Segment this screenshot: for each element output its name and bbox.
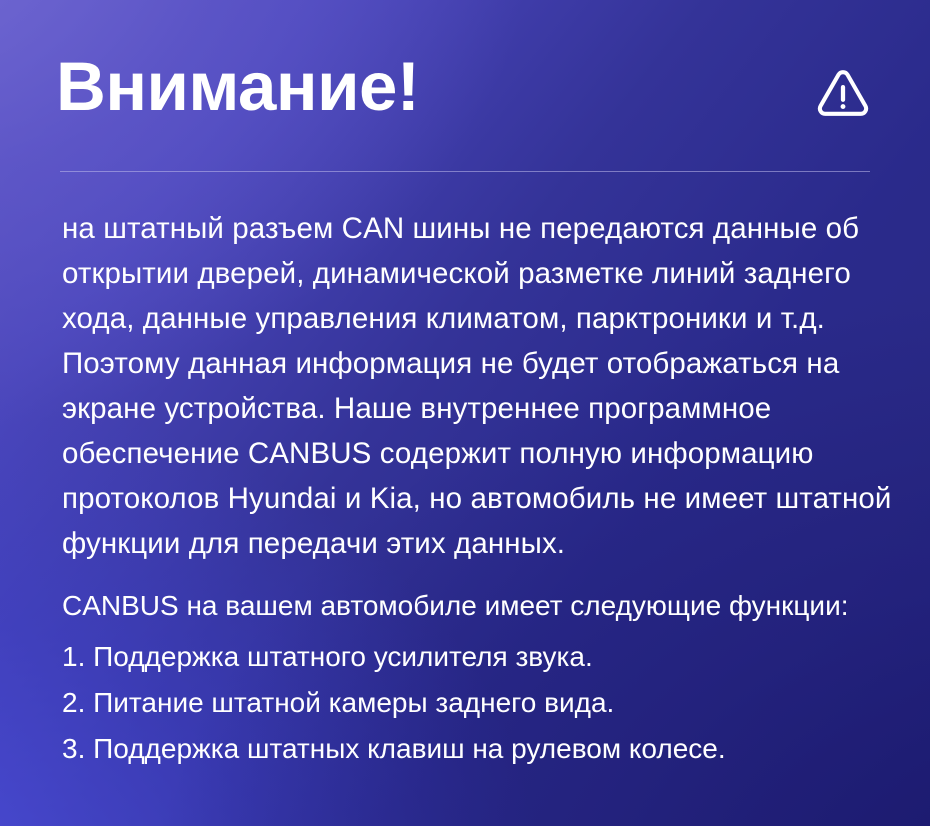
notice-line: хода, данные управления климатом, парктр…	[62, 296, 886, 341]
notice-line: Поэтому данная информация не будет отобр…	[62, 341, 886, 386]
notice-line: открытии дверей, динамической разметке л…	[62, 251, 886, 296]
notice-line: функции для передачи этих данных.	[62, 521, 886, 566]
notice-paragraph-block: на штатный разъем CAN шины не передаются…	[62, 206, 886, 566]
warning-notice-poster: Внимание! на штатный разъем CAN шины не …	[0, 0, 930, 826]
notice-paragraph: на штатный разъем CAN шины не передаются…	[62, 206, 886, 566]
header-divider	[60, 171, 870, 172]
page-title: Внимание!	[56, 52, 419, 121]
notice-line: на штатный разъем CAN шины не передаются…	[62, 206, 886, 251]
list-item: 1. Поддержка штатного усилителя звука.	[62, 634, 892, 680]
warning-triangle-icon	[812, 62, 874, 124]
notice-line: протоколов Hyundai и Kia, но автомобиль …	[62, 476, 886, 521]
notice-line: экране устройства. Наше внутреннее прогр…	[62, 386, 886, 431]
notice-line: обеспечение CANBUS содержит полную инфор…	[62, 431, 886, 476]
features-list: 1. Поддержка штатного усилителя звука. 2…	[62, 634, 892, 772]
poster-header: Внимание!	[0, 0, 930, 172]
list-item: 3. Поддержка штатных клавиш на рулевом к…	[62, 726, 892, 772]
list-item: 2. Питание штатной камеры заднего вида.	[62, 680, 892, 726]
features-block: CANBUS на вашем автомобиле имеет следующ…	[62, 586, 892, 772]
features-intro: CANBUS на вашем автомобиле имеет следующ…	[62, 586, 892, 626]
